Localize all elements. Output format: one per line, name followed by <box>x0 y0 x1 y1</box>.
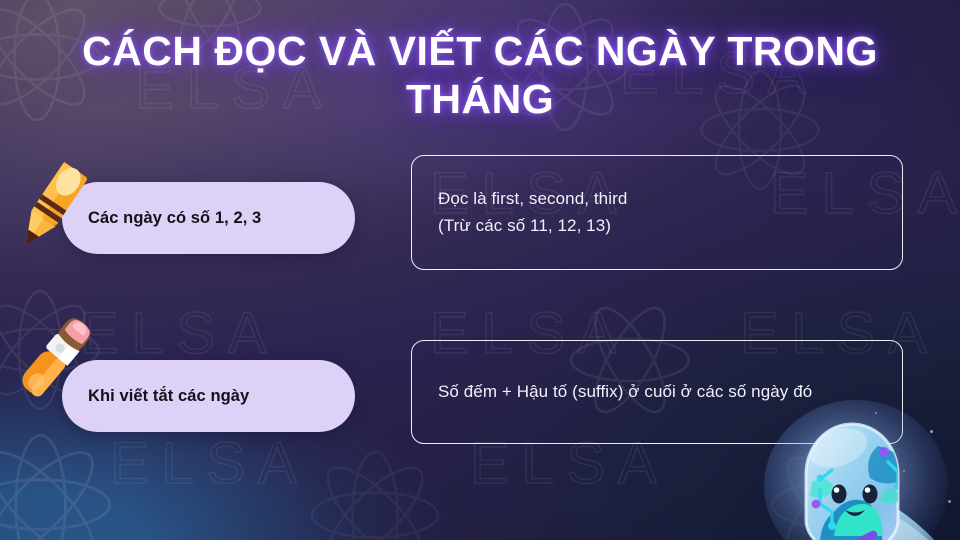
pencil-icon <box>8 160 92 256</box>
pill-row-1[interactable]: Các ngày có số 1, 2, 3 <box>62 182 355 254</box>
info-box-text-row-2: Số đếm + Hậu tố (suffix) ở cuối ở các số… <box>438 379 812 405</box>
sparkle <box>903 470 905 472</box>
info-box-row-1: Đọc là first, second, third (Trừ các số … <box>411 155 903 270</box>
sparkle <box>930 430 933 433</box>
elsa-ghost-mascot <box>760 386 960 540</box>
sparkle <box>875 412 877 414</box>
info-box-text-row-1: Đọc là first, second, third (Trừ các số … <box>438 186 627 239</box>
page-title: CÁCH ĐỌC VÀ VIẾT CÁC NGÀY TRONG THÁNG <box>60 28 900 123</box>
pill-label-row-1: Các ngày có số 1, 2, 3 <box>62 209 279 228</box>
pill-row-2[interactable]: Khi viết tắt các ngày <box>62 360 355 432</box>
paintbrush-icon <box>12 312 96 408</box>
slide-canvas: ELSA ELSA ELSA ELSA ELSA ELSA ELSA ELSA … <box>0 0 960 540</box>
sparkle <box>948 500 951 503</box>
